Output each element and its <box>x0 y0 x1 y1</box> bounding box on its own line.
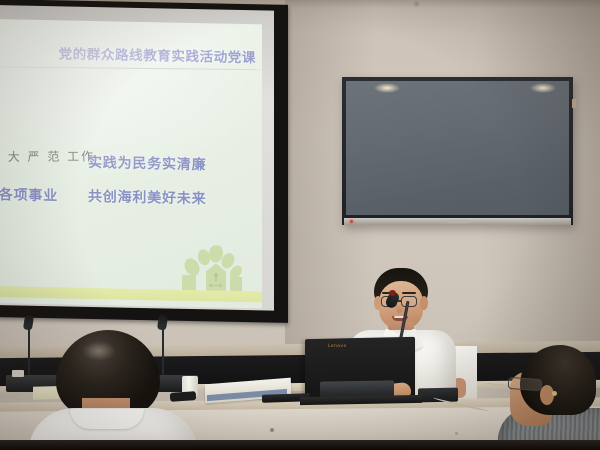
photo-scene: 党的群众路线教育实践活动党课 人 大 严 范 工作 实践为民务实清廉 利各项事业… <box>0 0 600 450</box>
podium-screw <box>455 432 458 435</box>
audience-right-eyeglasses <box>508 377 543 391</box>
projection-screen-frame: 党的群众路线教育实践活动党课 人 大 严 范 工作 实践为民务实清廉 利各项事业… <box>0 0 288 323</box>
tv-light-reflection <box>530 83 556 93</box>
laptop-brand-logo: Lenovo <box>328 344 352 349</box>
slide-divider-rule <box>0 66 262 70</box>
slide-title: 党的群众路线教育实践活动党课 <box>0 41 262 66</box>
speaker-ear-right <box>420 296 428 310</box>
speaker-nose <box>396 304 403 313</box>
projection-screen-border: 党的群众路线教育实践活动党课 人 大 严 范 工作 实践为民务实清廉 利各项事业… <box>0 5 274 311</box>
slide-handwriting: 人 大 严 范 工作 <box>0 148 80 170</box>
audience-right-earring <box>552 391 557 396</box>
slide-text-line-1: 实践为民务实清廉 <box>88 152 206 174</box>
audience-left-hair-highlight <box>82 341 116 361</box>
tv-power-led-icon <box>350 220 353 223</box>
speaker-microphone-windscreen <box>389 290 396 296</box>
wall-mounted-television[interactable] <box>342 77 573 225</box>
slide-logo-leaf-house-icon <box>172 245 246 292</box>
bottom-black-bar <box>0 440 600 450</box>
tv-screen <box>346 81 569 215</box>
microphone-gooseneck <box>28 324 30 376</box>
speaker-eyebrow-right <box>402 292 416 294</box>
slide-text-line-2: 利各项事业 <box>0 184 58 205</box>
tv-side-connector <box>572 99 576 108</box>
microphone-gooseneck <box>162 324 164 376</box>
microphone-base-label <box>12 370 24 377</box>
tv-brand-plate <box>447 220 469 223</box>
wall-mark <box>412 1 421 7</box>
audience-left-collar <box>70 409 144 429</box>
slide-text-line-3: 共创海利美好未来 <box>88 186 206 208</box>
tv-light-reflection <box>374 83 400 93</box>
podium-screw <box>270 428 274 432</box>
eyeglasses-on-desk <box>170 391 197 402</box>
projection-screen-surface: 党的群众路线教育实践活动党课 人 大 严 范 工作 实践为民务实清廉 利各项事业… <box>0 19 262 308</box>
